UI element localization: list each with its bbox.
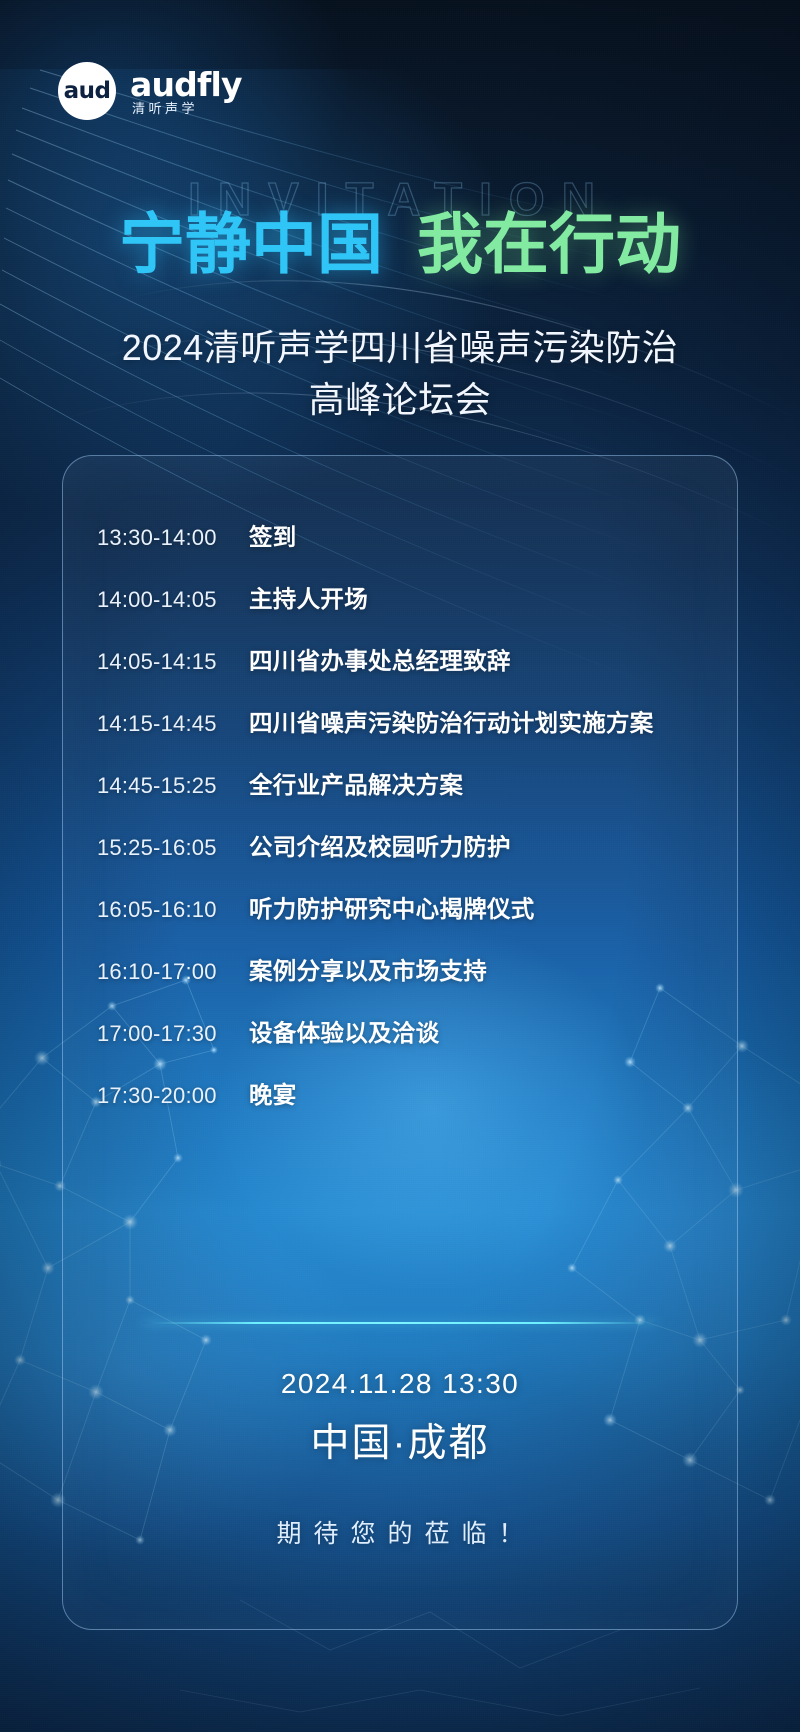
agenda-row-time: 13:30-14:00 [97,525,249,551]
agenda-card: 13:30-14:00签到14:00-14:05主持人开场14:05-14:15… [62,455,738,1630]
brand-wordmark: audfly 清听声学 [130,68,242,115]
event-datetime: 2024.11.28 13:30 [63,1368,737,1400]
brand-wordmark-chinese: 清听声学 [130,102,242,115]
page-subtitle-line2: 高峰论坛会 [0,374,800,426]
agenda-row: 17:30-20:00晚宴 [97,1076,713,1138]
agenda-row-topic: 全行业产品解决方案 [249,766,463,800]
agenda-row-topic: 案例分享以及市场支持 [249,952,487,986]
agenda-row: 14:15-14:45四川省噪声污染防治行动计划实施方案 [97,704,713,766]
invitation-poster: aud audfly 清听声学 INVITATION 宁静中国我在行动 2024… [0,0,800,1732]
page-subtitle-line1: 2024清听声学四川省噪声污染防治 [0,322,800,374]
audfly-circle-logo-icon: aud [58,62,116,120]
agenda-list: 13:30-14:00签到14:00-14:05主持人开场14:05-14:15… [97,518,713,1138]
card-divider [143,1322,657,1324]
agenda-row-topic: 四川省办事处总经理致辞 [249,642,511,676]
agenda-row-topic: 主持人开场 [249,580,368,614]
agenda-row: 17:00-17:30设备体验以及洽谈 [97,1014,713,1076]
page-title-part1: 宁静中国 [119,206,383,283]
agenda-row-topic: 设备体验以及洽谈 [249,1014,439,1048]
brand-logo: aud audfly 清听声学 [58,62,242,120]
agenda-row: 14:05-14:15四川省办事处总经理致辞 [97,642,713,704]
event-location: 中国·成都 [63,1412,737,1468]
logo-mark-text: aud [64,80,111,103]
agenda-row-time: 15:25-16:05 [97,835,249,861]
welcome-message: 期待您的莅临！ [63,1514,737,1550]
agenda-row-time: 14:05-14:15 [97,649,249,675]
card-footer: 2024.11.28 13:30 中国·成都 期待您的莅临！ [63,1368,737,1550]
agenda-row-topic: 签到 [249,518,297,552]
agenda-row: 16:05-16:10听力防护研究中心揭牌仪式 [97,890,713,952]
agenda-row: 15:25-16:05公司介绍及校园听力防护 [97,828,713,890]
agenda-row: 16:10-17:00案例分享以及市场支持 [97,952,713,1014]
agenda-row-time: 17:30-20:00 [97,1083,249,1109]
agenda-row-time: 16:10-17:00 [97,959,249,985]
agenda-row-time: 14:15-14:45 [97,711,249,737]
agenda-row-time: 14:00-14:05 [97,587,249,613]
agenda-row: 14:00-14:05主持人开场 [97,580,713,642]
agenda-row-time: 17:00-17:30 [97,1021,249,1047]
agenda-row-topic: 听力防护研究中心揭牌仪式 [249,890,535,924]
page-subtitle: 2024清听声学四川省噪声污染防治 高峰论坛会 [0,322,800,426]
agenda-row-topic: 晚宴 [249,1076,297,1110]
agenda-row-topic: 四川省噪声污染防治行动计划实施方案 [249,704,654,738]
agenda-row-topic: 公司介绍及校园听力防护 [249,828,511,862]
page-title-part2: 我在行动 [417,206,681,283]
agenda-row: 13:30-14:00签到 [97,518,713,580]
page-title: 宁静中国我在行动 [0,208,800,282]
brand-wordmark-latin: audfly [130,68,242,101]
agenda-row: 14:45-15:25全行业产品解决方案 [97,766,713,828]
agenda-row-time: 14:45-15:25 [97,773,249,799]
agenda-row-time: 16:05-16:10 [97,897,249,923]
